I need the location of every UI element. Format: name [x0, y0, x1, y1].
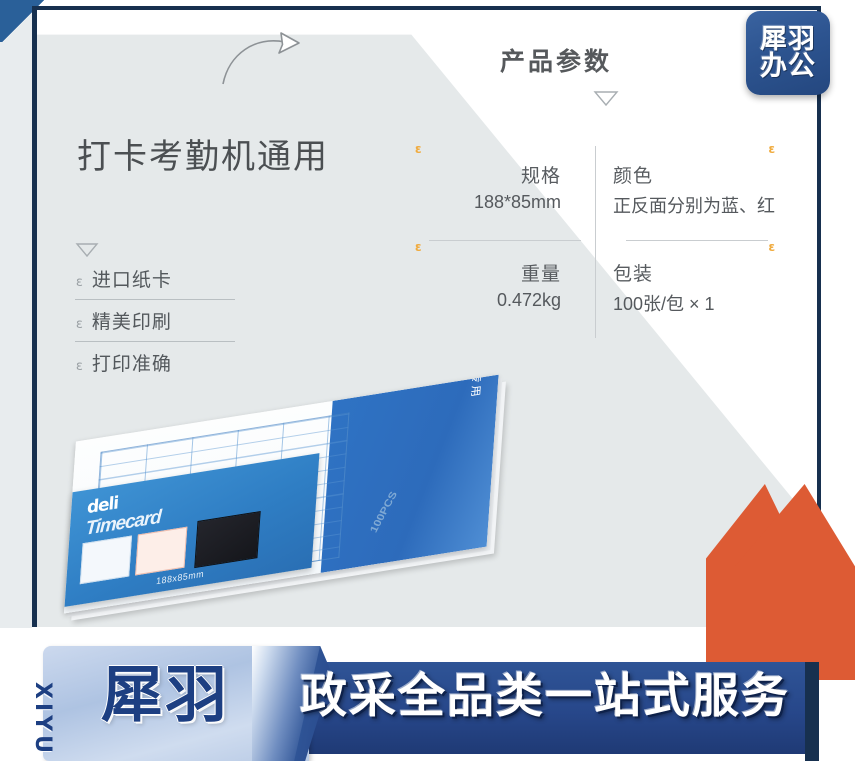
spec-grid: ɜ 规格 188*85mm ɜ 颜色 正反面分别为蓝、红 ɜ 重量 0.472k…	[415, 140, 775, 324]
feature-item: ɜ 进口纸卡	[75, 258, 235, 299]
spec-mark-icon: ɜ	[415, 242, 559, 252]
brand-chinese-name: 犀羽	[101, 664, 229, 726]
feature-list: ɜ 进口纸卡 ɜ 精美印刷 ɜ 打印准确	[75, 242, 235, 383]
timecard-blue-band: 感光纸考勤机专用	[321, 375, 499, 573]
caret-down-icon	[75, 242, 99, 258]
product-photo: 感光纸考勤机专用 100PCS deli Timecard 188x85mm	[67, 388, 547, 618]
spec-item-color: ɜ 颜色 正反面分别为蓝、红	[587, 140, 775, 226]
feature-item: ɜ 打印准确	[75, 341, 235, 383]
brand-english-name: XIYU	[30, 682, 55, 757]
spec-item-packaging: ɜ 包装 100张/包 × 1	[587, 226, 775, 324]
banner-slogan: 政采全品类一站式服务	[300, 673, 790, 720]
spec-caret-down-icon	[593, 90, 619, 107]
spec-item-weight: ɜ 重量 0.472kg	[415, 226, 587, 324]
feature-bullet-icon: ɜ	[75, 275, 83, 290]
feature-label: 精美印刷	[92, 307, 172, 334]
spec-key: 重量	[415, 259, 561, 286]
spec-value: 188*85mm	[415, 192, 561, 213]
timecard-band-text: 感光纸考勤机专用	[468, 375, 491, 400]
package-swatch-red	[135, 527, 187, 576]
logo-badge-line2: 办公	[760, 53, 816, 80]
feature-label: 打印准确	[92, 349, 172, 376]
spec-heading: 产品参数	[37, 42, 817, 78]
content-card: 打卡考勤机通用 ɜ 进口纸卡 ɜ 精美印刷 ɜ 打印准确 产品参数	[32, 6, 821, 627]
feature-label: 进口纸卡	[92, 265, 172, 292]
package-swatch-blue	[80, 535, 132, 584]
spec-value: 正反面分别为蓝、红	[613, 192, 775, 218]
spec-key: 包装	[613, 259, 775, 286]
package-size-text: 188x85mm	[156, 569, 205, 587]
product-title: 打卡考勤机通用	[77, 129, 329, 178]
spec-key: 颜色	[613, 161, 775, 188]
spec-key: 规格	[415, 161, 561, 188]
brand-logo-badge: 犀羽 办公	[746, 11, 830, 95]
spec-value: 100张/包 × 1	[613, 290, 775, 316]
product-detail-page: 打卡考勤机通用 ɜ 进口纸卡 ɜ 精美印刷 ɜ 打印准确 产品参数	[0, 0, 855, 761]
spec-mark-icon: ɜ	[613, 144, 775, 154]
spec-value: 0.472kg	[415, 290, 561, 311]
feature-bullet-icon: ɜ	[75, 359, 83, 374]
feature-bullet-icon: ɜ	[75, 317, 83, 332]
logo-badge-line1: 犀羽	[760, 26, 816, 53]
bottom-banner: XIYU 犀羽 政采全品类一站式服务	[0, 640, 855, 761]
banner-navy-edge	[805, 662, 819, 761]
package-machine-photo	[194, 511, 261, 568]
left-background-strip	[0, 0, 32, 628]
feature-item: ɜ 精美印刷	[75, 299, 235, 341]
spec-mark-icon: ɜ	[613, 242, 775, 252]
spec-mark-icon: ɜ	[415, 144, 559, 154]
spec-item-size: ɜ 规格 188*85mm	[415, 140, 587, 226]
